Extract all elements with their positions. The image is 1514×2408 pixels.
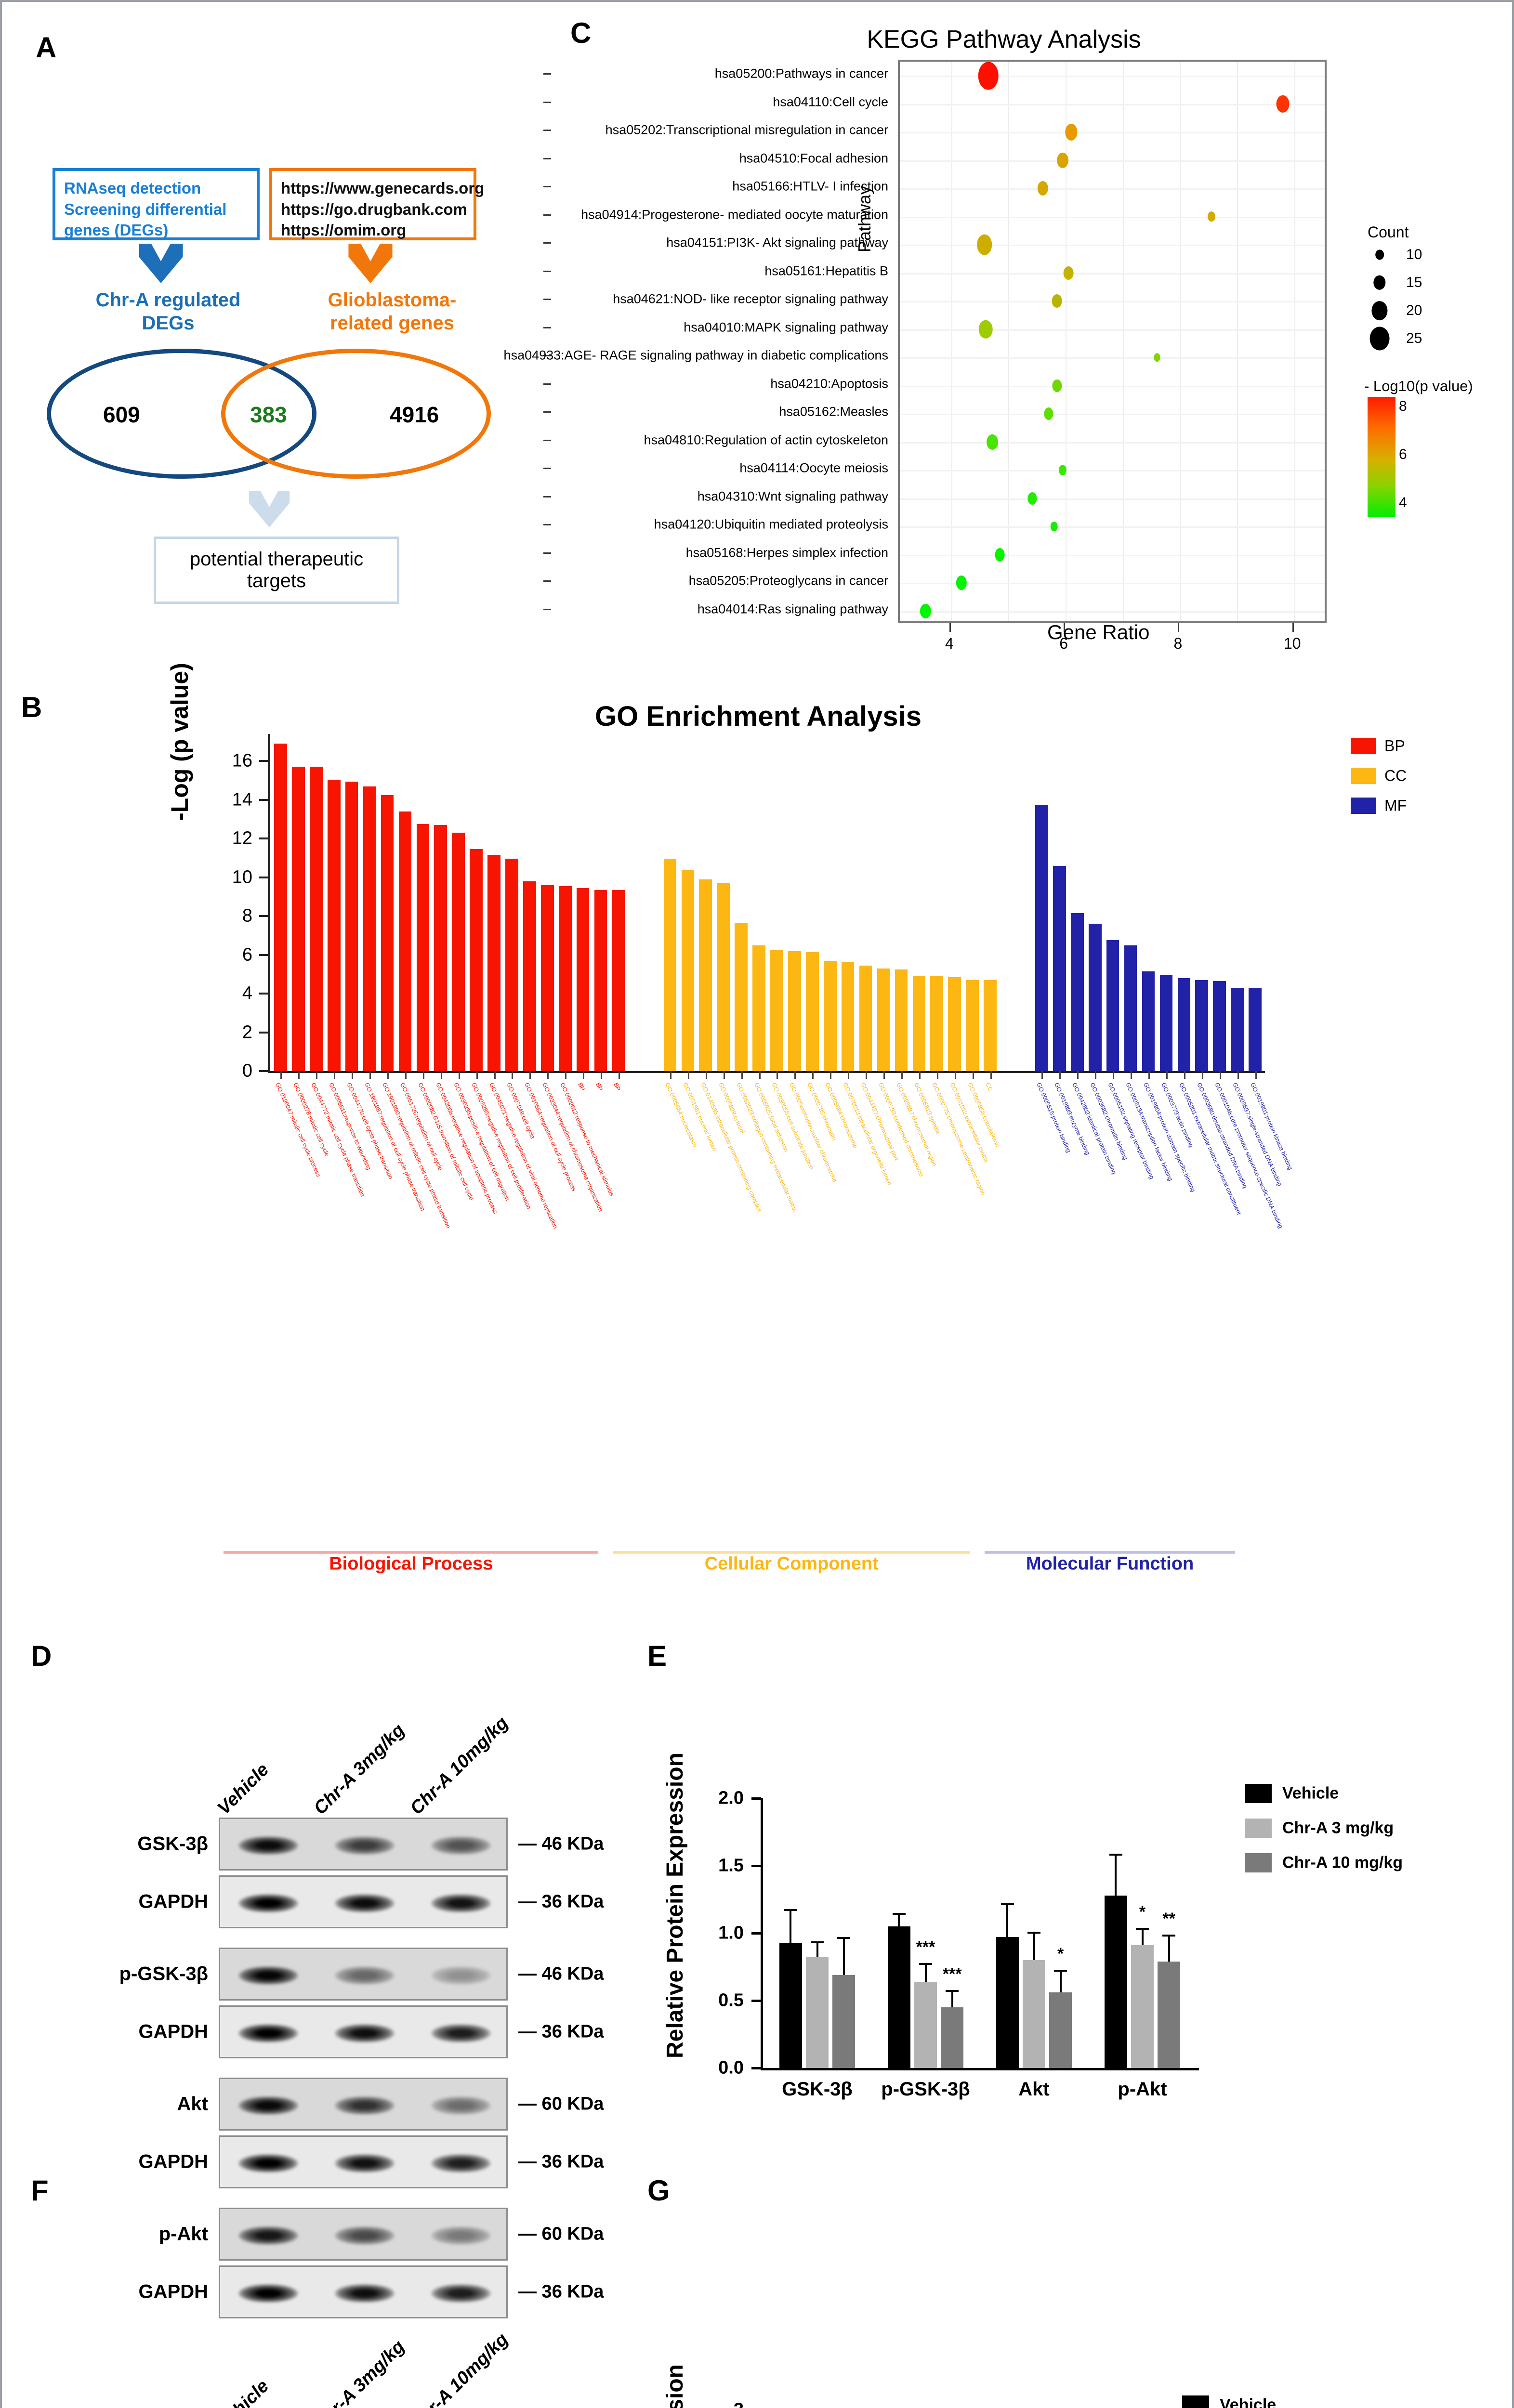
source-left-line-1: Screening differential <box>64 199 248 220</box>
barchart-legend-label-2: Chr-A 10 mg/kg <box>1282 1854 1403 1872</box>
caption-chr-a-degs: Chr-A regulatedDEGs <box>86 288 250 335</box>
go-bar-BP-9 <box>434 825 447 1071</box>
kegg-pathway-label-19: hsa04014:Ras signaling pathway <box>698 602 888 616</box>
blot-band-3-1 <box>335 2024 395 2042</box>
go-y-tick-label-8: 8 <box>195 906 252 927</box>
go-y-tick-label-0: 0 <box>195 1061 252 1082</box>
blot-band-5-1 <box>335 2154 395 2172</box>
go-bar-BP-15 <box>541 885 554 1071</box>
go-bar-BP-13 <box>505 859 518 1071</box>
database-url-0: https://www.genecards.org <box>281 178 465 199</box>
blot-kda-label-3: — 36 KDa <box>518 2022 604 2042</box>
go-x-tick-33 <box>901 1071 903 1079</box>
blot-kda-label-0: — 46 KDa <box>518 1834 604 1855</box>
kegg-dot-17 <box>995 548 1005 562</box>
barchart-bar-2-2 <box>1049 1992 1072 2068</box>
go-bar-MF-0 <box>1035 805 1048 1071</box>
barchart-errorbar-cap-2-1 <box>1027 1932 1040 1934</box>
kegg-dot-14 <box>1059 465 1066 475</box>
go-y-axis-title: -Log (p value) <box>166 663 194 821</box>
caption-left-line-0: Chr-A regulated <box>86 288 250 312</box>
go-y-tick-label-4: 4 <box>195 983 252 1004</box>
blot-band-5-0 <box>238 2154 298 2172</box>
go-x-tick-9 <box>441 1071 442 1079</box>
blot-band-1-0 <box>238 1894 298 1912</box>
barchart-errorbar-cap-3-0 <box>1109 1854 1122 1856</box>
barchart-significance-1-1: *** <box>916 1938 935 1957</box>
go-bar-BP-1 <box>292 767 305 1071</box>
go-bar-CC-1 <box>682 870 695 1071</box>
go-bar-CC-12 <box>877 968 890 1071</box>
kegg-count-legend-label-20: 20 <box>1406 302 1422 319</box>
kegg-y-tick-9 <box>543 327 551 328</box>
kegg-x-tick-4 <box>949 623 951 632</box>
go-bar-BP-8 <box>417 824 430 1071</box>
go-x-tick-7 <box>405 1071 407 1079</box>
barchart-bar-1-1 <box>914 1982 937 2068</box>
blot-strip-GAPDH-3 <box>219 2005 508 2058</box>
go-legend-swatch-CC <box>1351 768 1376 784</box>
go-x-tick-1 <box>298 1071 300 1079</box>
go-term-label-20: GO:0005654:nucleoplasm <box>664 1082 698 1148</box>
go-x-tick-17 <box>583 1071 584 1079</box>
kegg-pathway-label-3: hsa04510:Focal adhesion <box>739 151 888 166</box>
go-x-tick-36 <box>955 1071 956 1079</box>
kegg-y-tick-3 <box>543 158 551 159</box>
kegg-y-tick-11 <box>543 383 551 385</box>
kegg-y-tick-18 <box>543 580 551 582</box>
kegg-gridline-h-14 <box>900 470 1325 471</box>
go-bar-MF-2 <box>1071 913 1084 1071</box>
go-term-label-40: GO:0019899:enzyme binding <box>1053 1082 1092 1156</box>
go-x-tick-43 <box>1113 1071 1114 1079</box>
kegg-gridline-h-15 <box>900 498 1325 500</box>
go-x-tick-34 <box>919 1071 921 1079</box>
go-term-label-49: GO:0001046:core promoter sequence-specif… <box>1213 1082 1284 1230</box>
blot-row-label-GAPDH-5: GAPDH <box>50 2151 208 2173</box>
blot-band-1-1 <box>335 1894 395 1912</box>
go-x-tick-35 <box>937 1071 938 1079</box>
kegg-y-tick-19 <box>543 609 551 610</box>
blot-band-0-2 <box>431 1836 491 1854</box>
go-bar-BP-3 <box>328 780 341 1071</box>
go-bar-BP-5 <box>363 786 376 1071</box>
go-x-tick-44 <box>1131 1071 1132 1079</box>
panel-e: E **********0.00.51.01.52.0Relative Prot… <box>604 1639 1500 2155</box>
kegg-pathway-label-0: hsa05200:Pathways in cancer <box>715 66 888 81</box>
kegg-y-tick-8 <box>543 299 551 300</box>
kegg-colorbar-title: - Log10(p value) <box>1364 378 1473 395</box>
go-bar-BP-19 <box>612 890 625 1071</box>
go-bar-MF-4 <box>1106 940 1119 1071</box>
kegg-gridline-v-9 <box>1237 62 1238 621</box>
barchart-errorbar-0-0 <box>790 1909 791 1943</box>
go-term-label-6: GO:1901990:regulation of mitotic cell cy… <box>381 1082 452 1230</box>
go-bar-CC-4 <box>735 923 748 1071</box>
kegg-y-tick-1 <box>543 102 551 103</box>
kegg-dot-2 <box>1065 124 1077 140</box>
kegg-y-tick-5 <box>543 214 551 216</box>
kegg-y-tick-0 <box>543 73 551 75</box>
kegg-count-legend-dot-20 <box>1371 301 1387 320</box>
go-plot-area <box>272 734 1264 1071</box>
kegg-gridline-v-6 <box>1066 62 1066 621</box>
kegg-y-tick-16 <box>543 524 551 525</box>
barchart-significance-2-2: * <box>1057 1945 1064 1963</box>
kegg-x-tick-label-10: 10 <box>1284 635 1301 653</box>
kegg-dot-18 <box>956 576 967 590</box>
go-x-tick-19 <box>619 1071 620 1079</box>
go-x-tick-18 <box>601 1071 602 1079</box>
panel-f: F VehicleChr-A 3mg/kgChr-A 10mg/kgSlug— … <box>31 2174 599 2408</box>
go-bracket-label-0: Biological Process <box>224 1554 598 1574</box>
go-y-tick-16 <box>259 760 268 762</box>
barchart-bar-0-2 <box>832 1975 855 2068</box>
go-bar-MF-12 <box>1249 988 1262 1071</box>
go-bar-BP-4 <box>345 782 358 1071</box>
go-bar-BP-14 <box>523 881 536 1071</box>
blot-row-label-GSK-3β-0: GSK-3β <box>50 1833 208 1855</box>
barchart-bar-0-0 <box>779 1943 802 2068</box>
kegg-gridline-v-7 <box>1123 62 1124 621</box>
go-bar-CC-17 <box>966 980 979 1071</box>
go-x-tick-22 <box>706 1071 707 1079</box>
caption-glioblastoma-genes: Glioblastoma-related genes <box>305 288 479 335</box>
panel-g-letter: G <box>647 2174 670 2207</box>
go-x-tick-12 <box>494 1071 496 1079</box>
go-bar-CC-18 <box>984 980 997 1071</box>
database-url-1: https://go.drugbank.com <box>281 199 465 220</box>
blot-lane-header-2: Chr-A 10mg/kg <box>407 1713 513 1819</box>
go-x-tick-20 <box>670 1071 671 1079</box>
blot-kda-label-4: — 60 KDa <box>518 2094 604 2115</box>
go-bar-CC-15 <box>930 976 943 1071</box>
go-bar-BP-12 <box>487 855 500 1071</box>
venn-count-overlap: 383 <box>250 402 287 428</box>
source-left-line-0: RNAseq detection <box>64 178 248 199</box>
barchart-errorbar-1-1 <box>925 1963 927 1982</box>
kegg-x-axis-title: Gene Ratio <box>1047 621 1149 644</box>
kegg-dot-4 <box>1038 181 1048 196</box>
go-bar-MF-3 <box>1089 924 1102 1071</box>
go-y-tick-0 <box>259 1070 268 1072</box>
go-x-tick-3 <box>334 1071 335 1079</box>
go-x-tick-23 <box>724 1071 725 1079</box>
kegg-count-legend-dot-25 <box>1370 327 1390 350</box>
go-x-tick-13 <box>512 1071 513 1079</box>
kegg-colorbar-tick-4: 4 <box>1399 495 1407 511</box>
go-y-tick-6 <box>259 954 268 956</box>
kegg-title: KEGG Pathway Analysis <box>821 25 1187 54</box>
barchart-category-label-2: Akt <box>1018 2079 1049 2100</box>
barchart-y-tick-1 <box>751 1932 761 1935</box>
kegg-dot-5 <box>1208 211 1215 222</box>
go-x-tick-8 <box>423 1071 424 1079</box>
barchart-legend-label-0: Vehicle <box>1282 1784 1339 1803</box>
kegg-pathway-label-14: hsa04114:Oocyte meiosis <box>739 461 888 476</box>
blot-band-3-0 <box>238 2024 298 2042</box>
chevron-down-icon-right <box>346 244 395 283</box>
figure-root: A RNAseq detectionScreening differential… <box>0 0 1514 2408</box>
go-x-tick-25 <box>759 1071 761 1079</box>
kegg-gridline-h-19 <box>900 611 1325 613</box>
go-term-label-38: CC <box>984 1082 994 1092</box>
kegg-count-legend-label-15: 15 <box>1406 275 1422 291</box>
go-y-tick-10 <box>259 877 268 878</box>
kegg-dot-8 <box>1052 294 1062 308</box>
barchart-errorbar-cap-3-1 <box>1136 1928 1148 1930</box>
go-x-tick-38 <box>990 1071 992 1079</box>
go-x-tick-5 <box>369 1071 371 1079</box>
kegg-pathway-label-12: hsa05162:Measles <box>779 405 888 419</box>
kegg-gridline-v-4 <box>951 62 952 621</box>
panel-d: D VehicleChr-A 3mg/kgChr-A 10mg/kgGSK-3β… <box>31 1639 599 2155</box>
go-bar-BP-7 <box>399 811 412 1071</box>
blot-band-1-2 <box>431 1894 491 1912</box>
barchart-errorbar-cap-2-0 <box>1001 1903 1014 1905</box>
blot-band-4-0 <box>238 2096 298 2114</box>
go-bar-MF-5 <box>1124 945 1137 1071</box>
barchart-significance-3-2: ** <box>1162 1910 1175 1928</box>
go-bar-MF-9 <box>1195 980 1208 1071</box>
go-x-tick-41 <box>1077 1071 1079 1079</box>
barchart-significance-3-1: * <box>1139 1903 1145 1922</box>
kegg-gridline-h-4 <box>900 188 1325 190</box>
barchart-errorbar-cap-3-2 <box>1162 1935 1175 1937</box>
kegg-y-tick-12 <box>543 411 551 413</box>
panel-c-letter: C <box>570 16 591 50</box>
panel-a: A RNAseq detectionScreening differential… <box>31 21 541 662</box>
blot-lane-header-1: Chr-A 3mg/kg <box>310 2336 409 2408</box>
kegg-pathway-label-18: hsa05205:Proteoglycans in cancer <box>689 574 888 589</box>
go-bar-CC-10 <box>842 962 855 1071</box>
go-x-tick-10 <box>459 1071 460 1079</box>
kegg-dot-9 <box>979 320 993 339</box>
go-x-tick-40 <box>1059 1071 1061 1079</box>
barchart-y-axis-title: Relative Protein Expression <box>662 2364 688 2408</box>
blot-strip-GSK-3β-0 <box>219 1818 508 1871</box>
kegg-y-tick-6 <box>543 242 551 244</box>
blot-lane-header-0: Vehicle <box>214 1759 274 1819</box>
kegg-gridline-h-5 <box>900 217 1325 218</box>
go-term-label-19: BP <box>612 1082 622 1092</box>
kegg-y-tick-7 <box>543 271 551 272</box>
go-legend-swatch-BP <box>1351 738 1376 754</box>
kegg-count-legend-label-25: 25 <box>1406 330 1422 347</box>
go-bar-CC-3 <box>717 883 730 1071</box>
kegg-gridline-h-1 <box>900 104 1325 105</box>
kegg-gridline-h-16 <box>900 526 1325 528</box>
barchart-category-label-1: p-GSK-3β <box>881 2079 970 2100</box>
barchart-legend-label-0: Vehicle <box>1220 2396 1276 2408</box>
kegg-pathway-label-1: hsa04110:Cell cycle <box>773 94 888 109</box>
go-y-tick-label-12: 12 <box>195 828 252 849</box>
go-y-tick-4 <box>259 993 268 995</box>
go-bracket-label-1: Cellular Component <box>613 1554 970 1574</box>
barchart-errorbar-1-0 <box>898 1913 900 1926</box>
kegg-pathway-label-2: hsa05202:Transcriptional misregulation i… <box>606 123 888 138</box>
go-x-tick-2 <box>316 1071 317 1079</box>
kegg-gridline-h-12 <box>900 414 1325 415</box>
blot-strip-p-GSK-3β-2 <box>219 1948 508 2001</box>
go-term-label-25: GO:0005925:focal adhesion <box>753 1082 790 1153</box>
barchart-errorbar-2-1 <box>1033 1932 1035 1960</box>
go-title: GO Enrichment Analysis <box>21 700 1495 733</box>
go-y-tick-14 <box>259 799 268 801</box>
go-x-tick-39 <box>1041 1071 1043 1079</box>
potential-targets-box: potential therapeutic targets <box>154 537 399 604</box>
kegg-pathway-label-7: hsa05161:Hepatitis B <box>764 263 888 278</box>
chevron-down-icon-left <box>137 244 185 283</box>
go-x-tick-29 <box>830 1071 831 1079</box>
kegg-count-legend-dot-15 <box>1373 275 1385 290</box>
go-bracket-label-2: Molecular Function <box>985 1554 1235 1574</box>
source-left-line-2: genes (DEGs) <box>64 220 248 241</box>
barchart-errorbar-cap-1-1 <box>919 1963 932 1965</box>
kegg-colorbar <box>1368 397 1396 517</box>
go-x-tick-50 <box>1238 1071 1239 1079</box>
kegg-y-tick-4 <box>543 186 551 187</box>
venn-count-left: 609 <box>103 402 140 428</box>
barchart-errorbar-cap-0-1 <box>811 1941 823 1943</box>
go-x-tick-31 <box>866 1071 867 1079</box>
go-bar-MF-11 <box>1231 988 1244 1071</box>
go-y-tick-label-6: 6 <box>195 944 252 965</box>
blot-lane-header-1: Chr-A 3mg/kg <box>310 1720 409 1819</box>
go-y-tick-label-2: 2 <box>195 1022 252 1043</box>
barchart-bar-3-0 <box>1105 1896 1127 2068</box>
go-bar-BP-10 <box>452 833 465 1071</box>
panel-b: B GO Enrichment Analysis GO:0190047:mito… <box>21 676 1495 1606</box>
go-legend-label-MF: MF <box>1384 797 1407 815</box>
barchart-errorbar-3-0 <box>1115 1854 1117 1896</box>
barchart-errorbar-3-1 <box>1142 1928 1144 1945</box>
go-x-tick-49 <box>1220 1071 1221 1079</box>
go-bar-BP-11 <box>470 849 483 1071</box>
go-term-label-21: GO:0031981:nuclear lumen <box>682 1082 718 1152</box>
barchart-y-tick-0.5 <box>751 2000 761 2002</box>
barchart-category-label-3: p-Akt <box>1118 2079 1167 2100</box>
go-x-tick-46 <box>1166 1071 1168 1079</box>
kegg-pathway-label-15: hsa04310:Wnt signaling pathway <box>698 489 888 504</box>
go-y-tick-8 <box>259 915 268 917</box>
kegg-x-tick-8 <box>1178 623 1179 632</box>
go-x-tick-28 <box>812 1071 814 1079</box>
blot-strip-GAPDH-1 <box>219 1875 508 1928</box>
go-y-tick-label-10: 10 <box>195 867 252 888</box>
kegg-dot-6 <box>977 235 992 255</box>
go-x-tick-42 <box>1095 1071 1096 1079</box>
barchart-bar-1-0 <box>888 1926 910 2068</box>
barchart-bar-1-2 <box>941 2007 963 2068</box>
go-bar-BP-17 <box>577 888 590 1071</box>
barchart-errorbar-cap-2-2 <box>1054 1970 1066 1972</box>
blot-band-2-2 <box>431 1966 491 1984</box>
go-bar-CC-6 <box>770 950 783 1071</box>
kegg-count-legend-title: Count <box>1368 223 1409 241</box>
go-x-tick-24 <box>741 1071 743 1079</box>
blot-band-5-2 <box>431 2154 491 2172</box>
go-bar-BP-6 <box>381 795 394 1071</box>
kegg-pathway-label-16: hsa04120:Ubiquitin mediated proteolysis <box>654 517 888 532</box>
kegg-dot-1 <box>1277 95 1290 113</box>
go-y-tick-label-16: 16 <box>195 751 252 772</box>
barchart-significance-1-2: *** <box>943 1965 962 1984</box>
go-x-tick-4 <box>352 1071 353 1079</box>
go-bar-CC-5 <box>752 945 765 1071</box>
barchart-y-tick-0 <box>751 2067 761 2069</box>
barchart-legend-swatch-0 <box>1245 1784 1272 1803</box>
blot-row-label-GAPDH-3: GAPDH <box>50 2021 208 2043</box>
go-x-tick-15 <box>547 1071 549 1079</box>
blot-band-4-2 <box>431 2096 491 2114</box>
barchart-errorbar-0-2 <box>843 1937 845 1975</box>
chevron-down-icon-result <box>248 491 291 527</box>
barchart-errorbar-cap-0-0 <box>784 1909 797 1911</box>
barchart-bar-3-2 <box>1158 1962 1180 2068</box>
kegg-x-tick-label-4: 4 <box>945 635 954 653</box>
go-x-tick-26 <box>777 1071 778 1079</box>
blot-band-0-1 <box>335 1836 395 1854</box>
blot-row-label-p-GSK-3β-2: p-GSK-3β <box>50 1963 208 1985</box>
kegg-y-axis-title: Pathway <box>855 186 875 252</box>
caption-left-line-1: DEGs <box>86 312 250 335</box>
go-bar-BP-16 <box>559 886 572 1071</box>
kegg-gridline-h-0 <box>900 76 1325 77</box>
go-bar-MF-7 <box>1160 975 1173 1071</box>
go-bar-CC-0 <box>664 859 677 1071</box>
kegg-dot-16 <box>1051 522 1058 531</box>
go-x-tick-14 <box>529 1071 531 1079</box>
go-y-tick-12 <box>259 838 268 839</box>
barchart-errorbar-2-0 <box>1006 1903 1008 1937</box>
go-bar-CC-11 <box>859 966 872 1071</box>
blot-lane-header-2: Chr-A 10mg/kg <box>407 2329 513 2408</box>
kegg-gridline-h-6 <box>900 245 1325 246</box>
barchart-bar-0-1 <box>806 1957 829 2068</box>
barchart-errorbar-cap-1-0 <box>893 1913 905 1915</box>
kegg-gridline-v-10 <box>1294 62 1295 621</box>
panel-a-letter: A <box>36 31 56 64</box>
kegg-count-legend-label-10: 10 <box>1406 247 1422 263</box>
go-y-tick-2 <box>259 1032 268 1034</box>
caption-right-line-1: related genes <box>305 312 479 335</box>
kegg-pathway-label-5: hsa04914:Progesterone- mediated oocyte m… <box>581 207 888 222</box>
go-x-tick-37 <box>973 1071 974 1079</box>
blot-band-0-0 <box>238 1836 298 1854</box>
kegg-gridline-v-8 <box>1180 62 1181 621</box>
kegg-pathway-label-8: hsa04621:NOD- like receptor signaling pa… <box>613 292 888 307</box>
go-bar-CC-13 <box>895 969 908 1071</box>
kegg-y-tick-15 <box>543 496 551 497</box>
go-x-tick-6 <box>387 1071 389 1079</box>
kegg-gridline-h-9 <box>900 329 1325 331</box>
go-term-label-39: GO:0005515:protein binding <box>1036 1082 1073 1153</box>
barchart-errorbar-3-2 <box>1168 1935 1170 1962</box>
barchart-legend-swatch-1 <box>1245 1819 1272 1838</box>
kegg-gridline-h-10 <box>900 357 1325 359</box>
kegg-y-tick-2 <box>543 130 551 131</box>
go-bar-CC-2 <box>699 879 712 1071</box>
go-x-tick-21 <box>688 1071 689 1079</box>
barchart-y-tick-1.5 <box>751 1865 761 1867</box>
kegg-dot-10 <box>1154 353 1160 362</box>
blot-row-label-Akt-4: Akt <box>50 2094 208 2115</box>
blot-band-3-2 <box>431 2024 491 2042</box>
go-bar-BP-0 <box>274 744 287 1071</box>
go-legend-swatch-MF <box>1351 798 1376 814</box>
blot-band-2-0 <box>238 1966 298 1984</box>
